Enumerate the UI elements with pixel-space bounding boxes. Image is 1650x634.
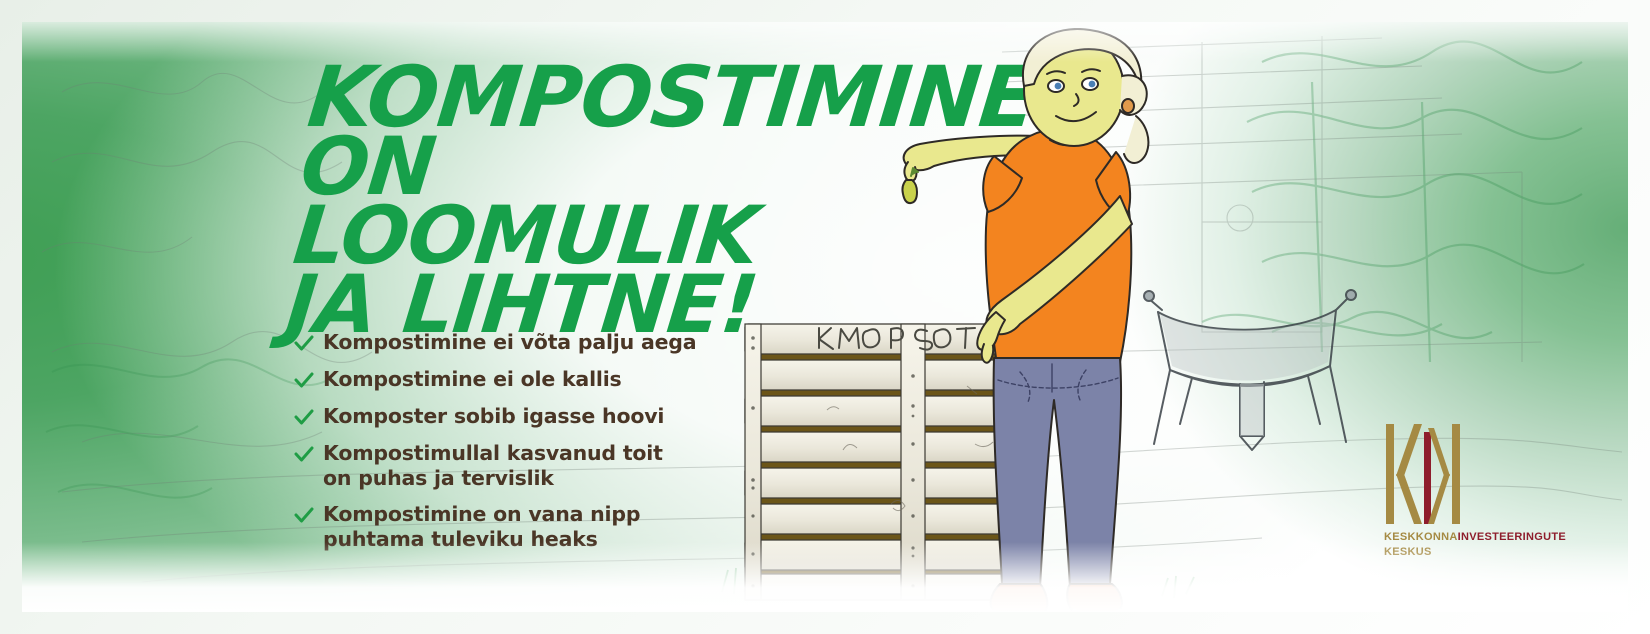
compost-awareness-banner: Kompostimine on loomulik ja lihtne! Komp… [0,0,1650,634]
bottom-fade-overlay [22,542,1628,612]
banner-artwork-plate: Kompostimine on loomulik ja lihtne! Komp… [22,22,1628,612]
list-item-label: Kompostimine ei võta palju aega [323,330,696,355]
list-item: Kompostimine ei ole kallis [294,367,714,393]
check-icon [294,445,314,467]
check-icon [294,408,314,430]
list-item-label: Komposter sobib igasse hoovi [323,404,664,429]
headline-line-2: on loomulik [291,134,925,272]
list-item: Kompostimine ei võta palju aega [294,330,714,356]
benefits-list: Kompostimine ei võta palju aega Komposti… [294,330,714,563]
list-item-label: Kompostimine ei ole kallis [323,367,622,392]
check-icon [294,506,314,528]
check-icon [294,371,314,393]
kik-logo: KESKKONNAINVESTEERINGUTE KESKUS [1370,424,1550,560]
kik-logo-mark [1384,424,1462,524]
list-item-label: Kompostimullal kasvanud toit on puhas ja… [323,441,663,491]
list-item: Kompostimullal kasvanud toit on puhas ja… [294,441,714,491]
girl-illustration [884,28,1214,612]
top-fade-overlay [22,22,1628,62]
check-icon [294,334,314,356]
list-item: Komposter sobib igasse hoovi [294,404,714,430]
